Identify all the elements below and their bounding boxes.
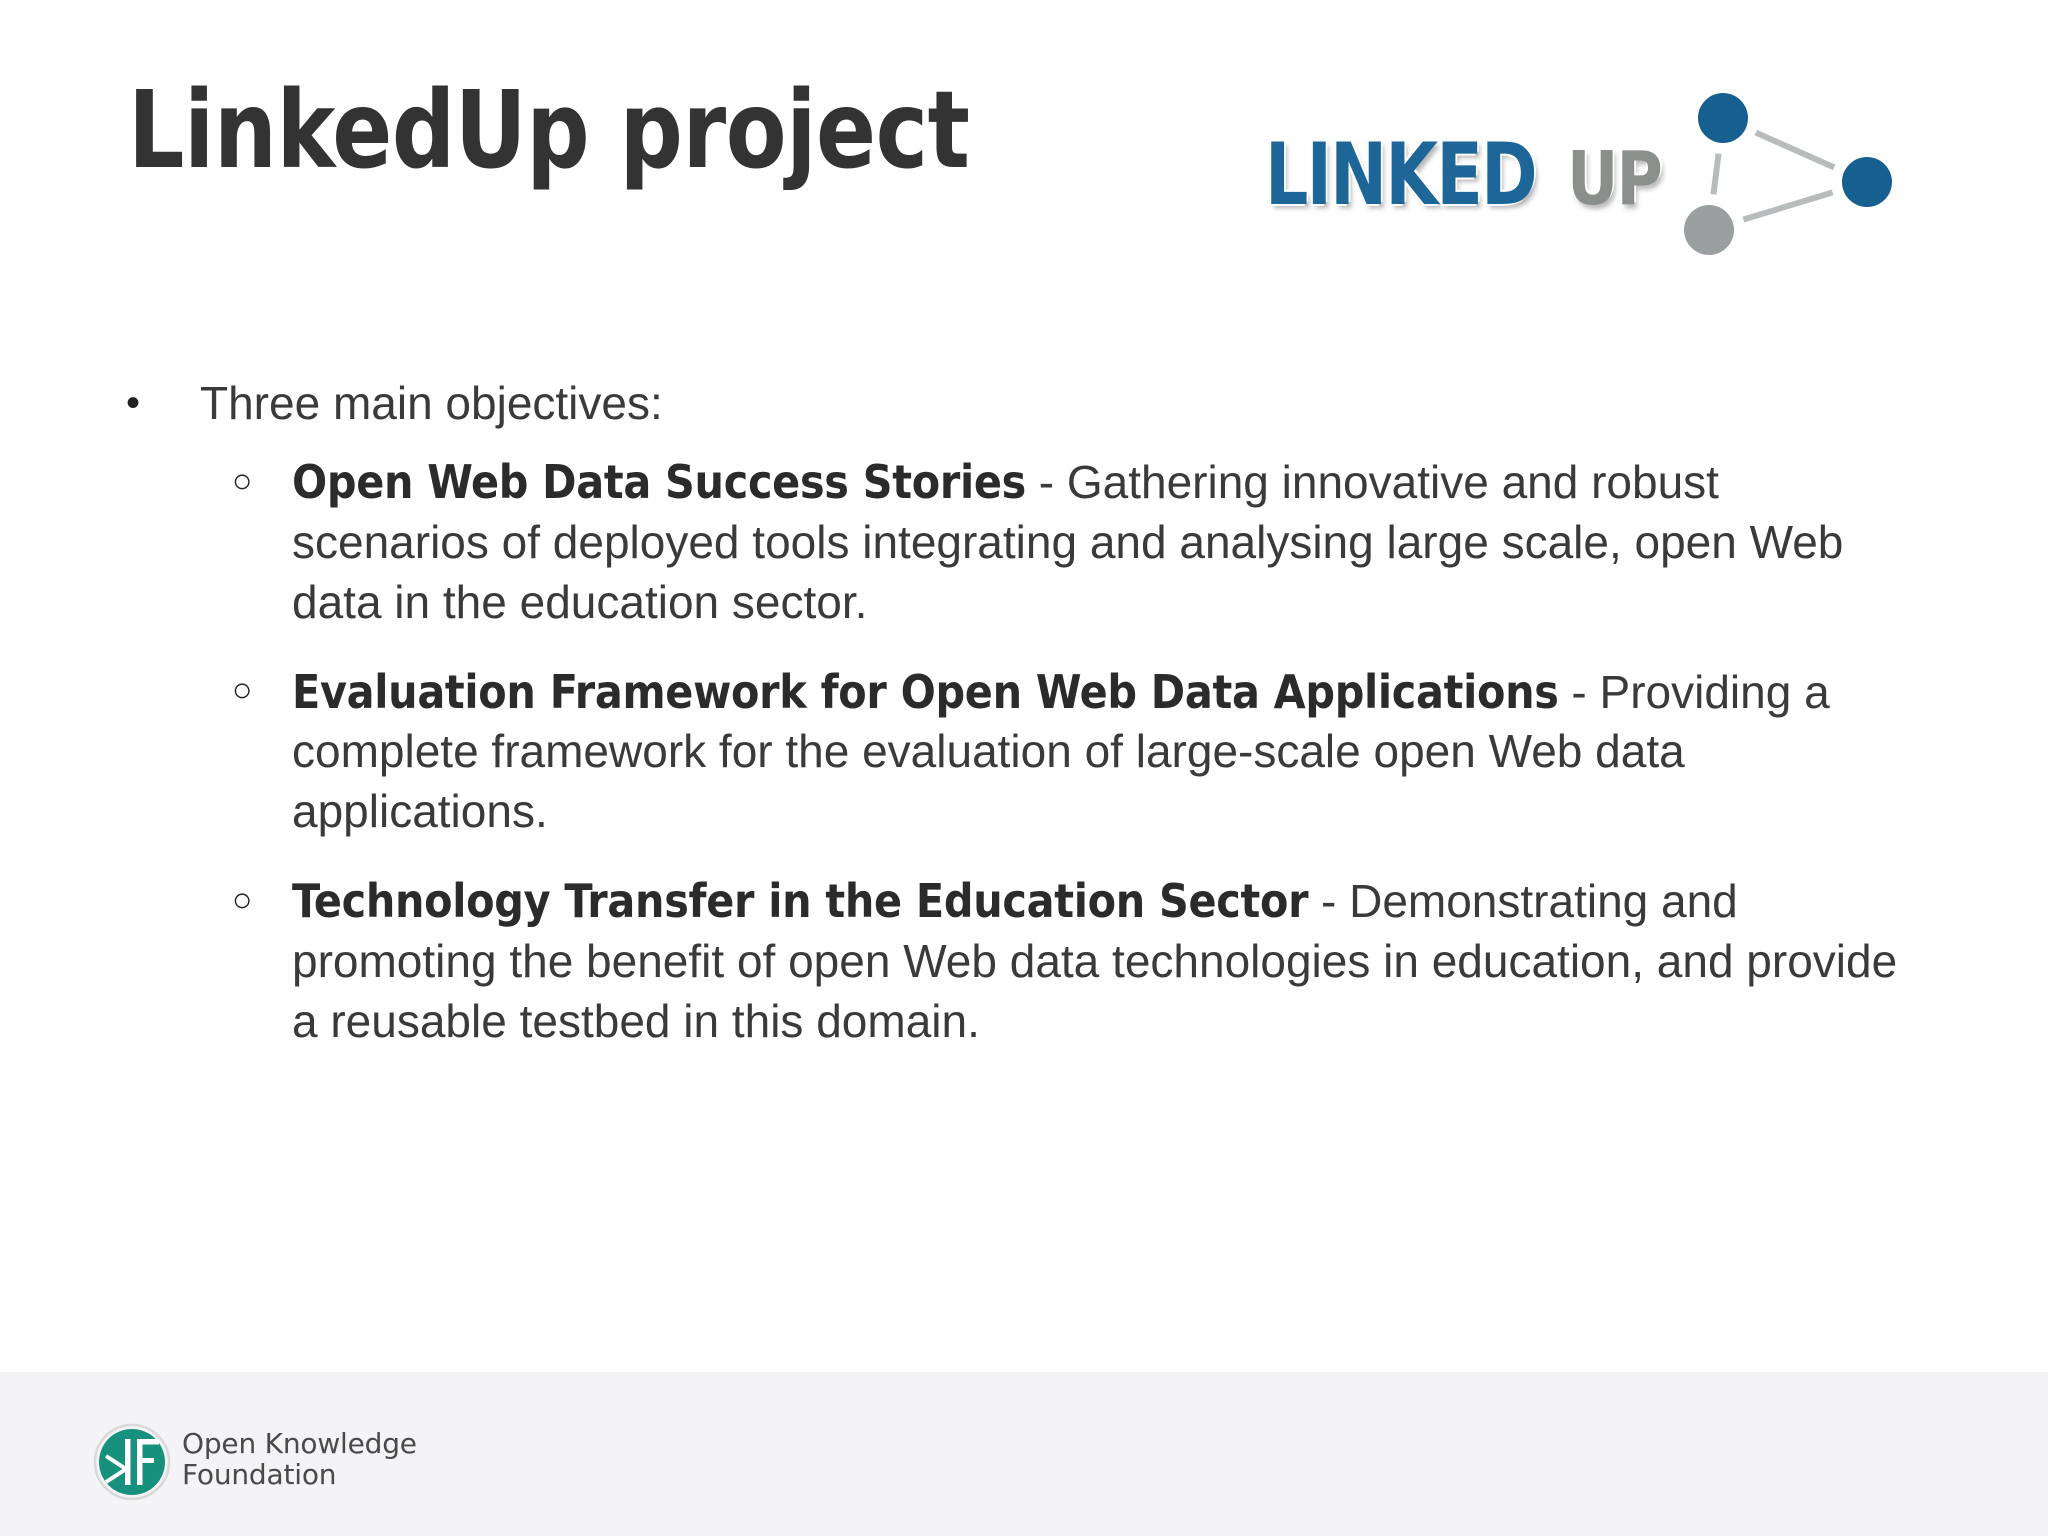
intro-text: Three main objectives:: [200, 377, 663, 429]
slide-canvas: LinkedUp project LINKEDUP: [0, 0, 2048, 1536]
list-item-objective-3: ○Technology Transfer in the Education Se…: [0, 872, 2048, 1051]
okf-circle-icon: [92, 1422, 172, 1502]
list-item-objective-1: ○Open Web Data Success Stories - Gatheri…: [0, 453, 2048, 632]
content-body: • Three main objectives: ○Open Web Data …: [0, 376, 2048, 1081]
open-knowledge-foundation-logo: Open Knowledge Foundation: [92, 1422, 432, 1514]
objective-1-term: Open Web Data Success Stories: [292, 455, 1026, 509]
okf-wordmark-line1: Open Knowledge: [182, 1428, 417, 1459]
objective-2-term: Evaluation Framework for Open Web Data A…: [292, 665, 1559, 719]
objectives-list: ○Open Web Data Success Stories - Gatheri…: [0, 453, 2048, 1051]
linkedup-logo: LINKEDUP: [1265, 70, 1995, 270]
network-graph-icon: [1605, 70, 1925, 270]
list-item-objective-2: ○Evaluation Framework for Open Web Data …: [0, 663, 2048, 842]
bullet-marker-hollow: ○: [232, 458, 253, 506]
linkedup-wordmark-linked: LINKED: [1265, 132, 1536, 218]
list-item-intro: • Three main objectives:: [0, 376, 2048, 431]
bullet-marker-hollow: ○: [232, 667, 253, 715]
objective-3-term: Technology Transfer in the Education Sec…: [292, 874, 1308, 928]
bullet-marker-hollow: ○: [232, 877, 253, 925]
okf-wordmark: Open Knowledge Foundation: [182, 1428, 417, 1491]
okf-wordmark-line2: Foundation: [182, 1459, 417, 1490]
bullet-marker-filled: •: [126, 378, 140, 428]
page-title: LinkedUp project: [128, 78, 969, 185]
